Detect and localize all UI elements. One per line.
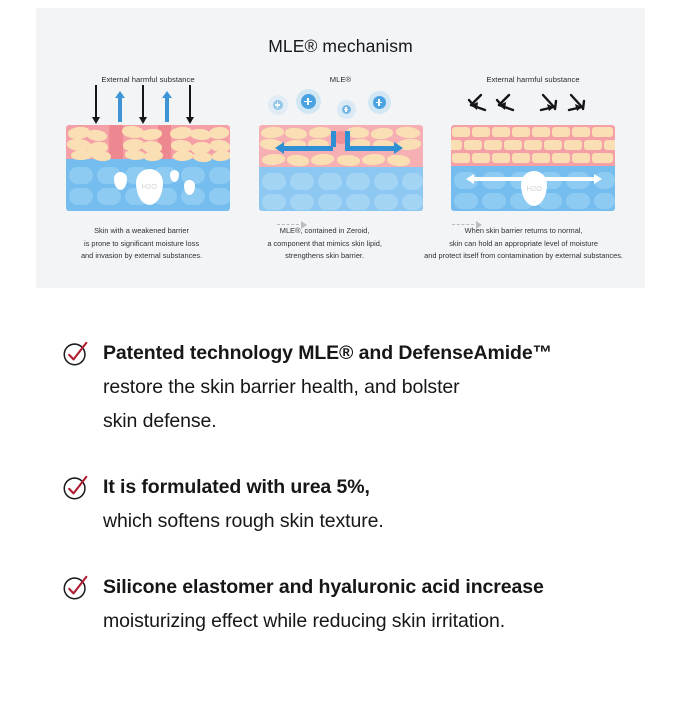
diagram-panel-weakened-barrier: External harmful substance (58, 75, 238, 211)
corneocyte (504, 140, 522, 150)
panel-1-heading: External harmful substance (58, 75, 238, 87)
mle-particle-icon (301, 94, 316, 109)
panel-1-caption: Skin with a weakened barrier is prone to… (50, 225, 233, 263)
caption-line: strengthens skin barrier. (233, 250, 416, 263)
feature-item: Silicone elastomer and hyaluronic acid i… (0, 570, 679, 638)
corneocyte (452, 127, 470, 137)
corneocyte (512, 127, 530, 137)
check-circle-icon (62, 574, 89, 601)
diagram-title: MLE® mechanism (36, 36, 645, 57)
barrier-gap (109, 125, 123, 159)
caption-line: and invasion by external substances. (50, 250, 233, 263)
caption-line: is prone to significant moisture loss (50, 238, 233, 251)
corneocyte (552, 127, 570, 137)
feature-line: moisturizing effect while reducing skin … (103, 604, 544, 638)
corneocyte (544, 140, 562, 150)
dermis-cell (69, 167, 93, 184)
mle-particle-icon (373, 96, 386, 109)
panel-2-skin-cross-section (259, 125, 423, 211)
dermis-cell (290, 194, 314, 210)
feature-line: restore the skin barrier health, and bol… (103, 370, 552, 404)
dermis-cell (566, 193, 590, 209)
corneocyte (452, 153, 470, 163)
dermis-cell (262, 173, 286, 190)
feature-text: Patented technology MLE® and DefenseAmid… (103, 336, 552, 438)
feature-item: Patented technology MLE® and DefenseAmid… (0, 336, 679, 438)
feature-text: Silicone elastomer and hyaluronic acid i… (103, 570, 544, 638)
dermis-cell (318, 173, 342, 190)
corneocyte (472, 153, 490, 163)
moisture-retention-arrow-right (543, 177, 595, 181)
panel-3-heading: External harmful substance (443, 75, 623, 87)
panel-3-arrows-zone (451, 89, 615, 117)
corneocyte (492, 127, 510, 137)
corneocyte (572, 127, 590, 137)
dermis-cell (209, 188, 230, 205)
dermis-cell (262, 194, 286, 210)
moisture-retention-arrow-left (473, 177, 525, 181)
h2o-label: H2O (142, 183, 157, 192)
feature-line: skin defense. (103, 404, 552, 438)
corneocyte (552, 153, 570, 163)
deflected-substance-arrows-icon (463, 91, 603, 115)
feature-line: It is formulated with urea 5%, (103, 470, 384, 504)
corneocyte (472, 127, 490, 137)
mle-spread-arrow-right (345, 146, 395, 151)
dermis-cell (69, 188, 93, 205)
mle-spread-elbow (331, 131, 336, 147)
panel-1-skin-cross-section: H2O (66, 125, 230, 211)
dermis-cell (594, 193, 615, 209)
caption-line: skin can hold an appropriate level of mo… (416, 238, 631, 251)
corneocyte (584, 140, 602, 150)
caption-line: a component that mimics skin lipid, (233, 238, 416, 251)
panel-2-particles-zone (259, 89, 423, 117)
diagram-panels-row: External harmful substance (36, 75, 645, 211)
dermis-cell (402, 194, 423, 210)
dermis-cell (209, 167, 230, 184)
dermis-cell (454, 193, 478, 209)
mle-particle-icon (342, 105, 351, 114)
corneocyte (492, 153, 510, 163)
corneocyte (524, 140, 542, 150)
mle-spread-elbow (345, 131, 350, 147)
dermis-cell (374, 194, 398, 210)
corneocyte (484, 140, 502, 150)
corneocyte (564, 140, 582, 150)
step-connector-arrow-icon (277, 220, 307, 230)
panel-2-caption: MLE®, contained in Zeroid, a component t… (233, 225, 416, 263)
dermis-cell (402, 173, 423, 190)
corneocyte (512, 153, 530, 163)
corneocyte (532, 153, 550, 163)
check-circle-icon (62, 340, 89, 367)
feature-item: It is formulated with urea 5%, which sof… (0, 470, 679, 538)
mle-particle-icon (273, 100, 283, 110)
step-connector-arrow-icon (452, 220, 482, 230)
corneocyte (464, 140, 482, 150)
feature-line: which softens rough skin texture. (103, 504, 384, 538)
panel-3-skin-cross-section: H2O (451, 125, 615, 211)
caption-line: MLE®, contained in Zeroid, (233, 225, 416, 238)
caption-line: and protect itself from contamination by… (416, 250, 631, 263)
corneocyte (592, 127, 613, 137)
dermis-cell (374, 173, 398, 190)
feature-text: It is formulated with urea 5%, which sof… (103, 470, 384, 538)
panel-1-arrows-zone (66, 89, 230, 117)
corneocyte (592, 153, 613, 163)
dermis-cell (346, 173, 370, 190)
feature-line: Silicone elastomer and hyaluronic acid i… (103, 570, 544, 604)
caption-line: When skin barrier returns to normal, (416, 225, 631, 238)
h2o-label: H2O (526, 184, 541, 193)
dermis-cell (482, 193, 506, 209)
panel-2-heading: MLE® (251, 75, 431, 87)
check-circle-icon (62, 474, 89, 501)
mle-spread-arrow-left (283, 146, 333, 151)
feature-line: Patented technology MLE® and DefenseAmid… (103, 336, 552, 370)
corneocyte (572, 153, 590, 163)
corneocyte (532, 127, 550, 137)
diagram-panel-restored-barrier: External harmful substance (443, 75, 623, 211)
diagram-captions-row: Skin with a weakened barrier is prone to… (36, 225, 645, 263)
corneocyte (604, 140, 615, 150)
feature-list: Patented technology MLE® and DefenseAmid… (0, 336, 679, 670)
mle-mechanism-diagram: MLE® mechanism External harmful substanc… (36, 8, 645, 288)
panel-3-caption: When skin barrier returns to normal, ski… (416, 225, 631, 263)
dermis-cell (290, 173, 314, 190)
dermis-cell (346, 194, 370, 210)
corneocyte (451, 140, 462, 150)
diagram-panel-mle: MLE® (251, 75, 431, 211)
dermis-cell (97, 188, 121, 205)
dermis-cell (318, 194, 342, 210)
caption-line: Skin with a weakened barrier (50, 225, 233, 238)
